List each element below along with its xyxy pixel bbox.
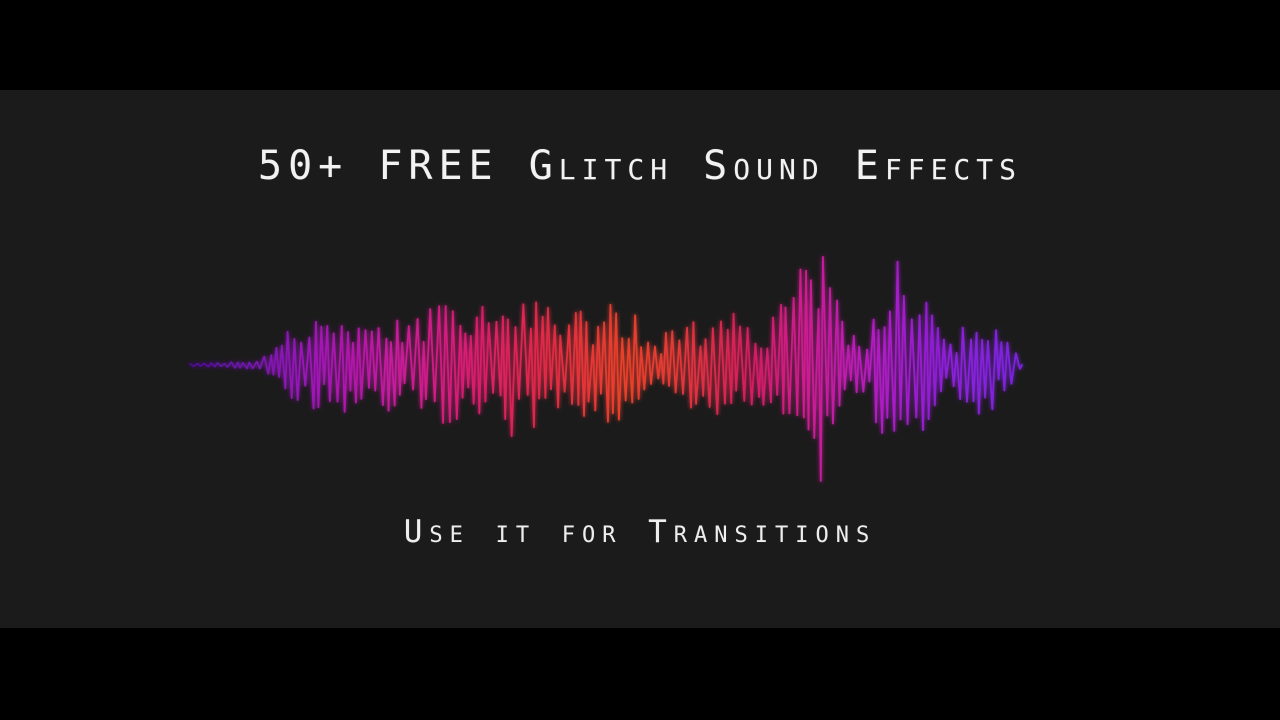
page-title: 50+ FREE Glitch Sound Effects (0, 142, 1280, 190)
video-thumbnail-canvas: 50+ FREE Glitch Sound Effects Use it for (0, 0, 1280, 720)
letterbox-bar-top (0, 0, 1280, 90)
waveform-container (0, 220, 1280, 510)
page-subtitle: Use it for Transitions (0, 514, 1280, 551)
audio-waveform-icon (0, 220, 1280, 510)
letterbox-bar-bottom (0, 628, 1280, 720)
